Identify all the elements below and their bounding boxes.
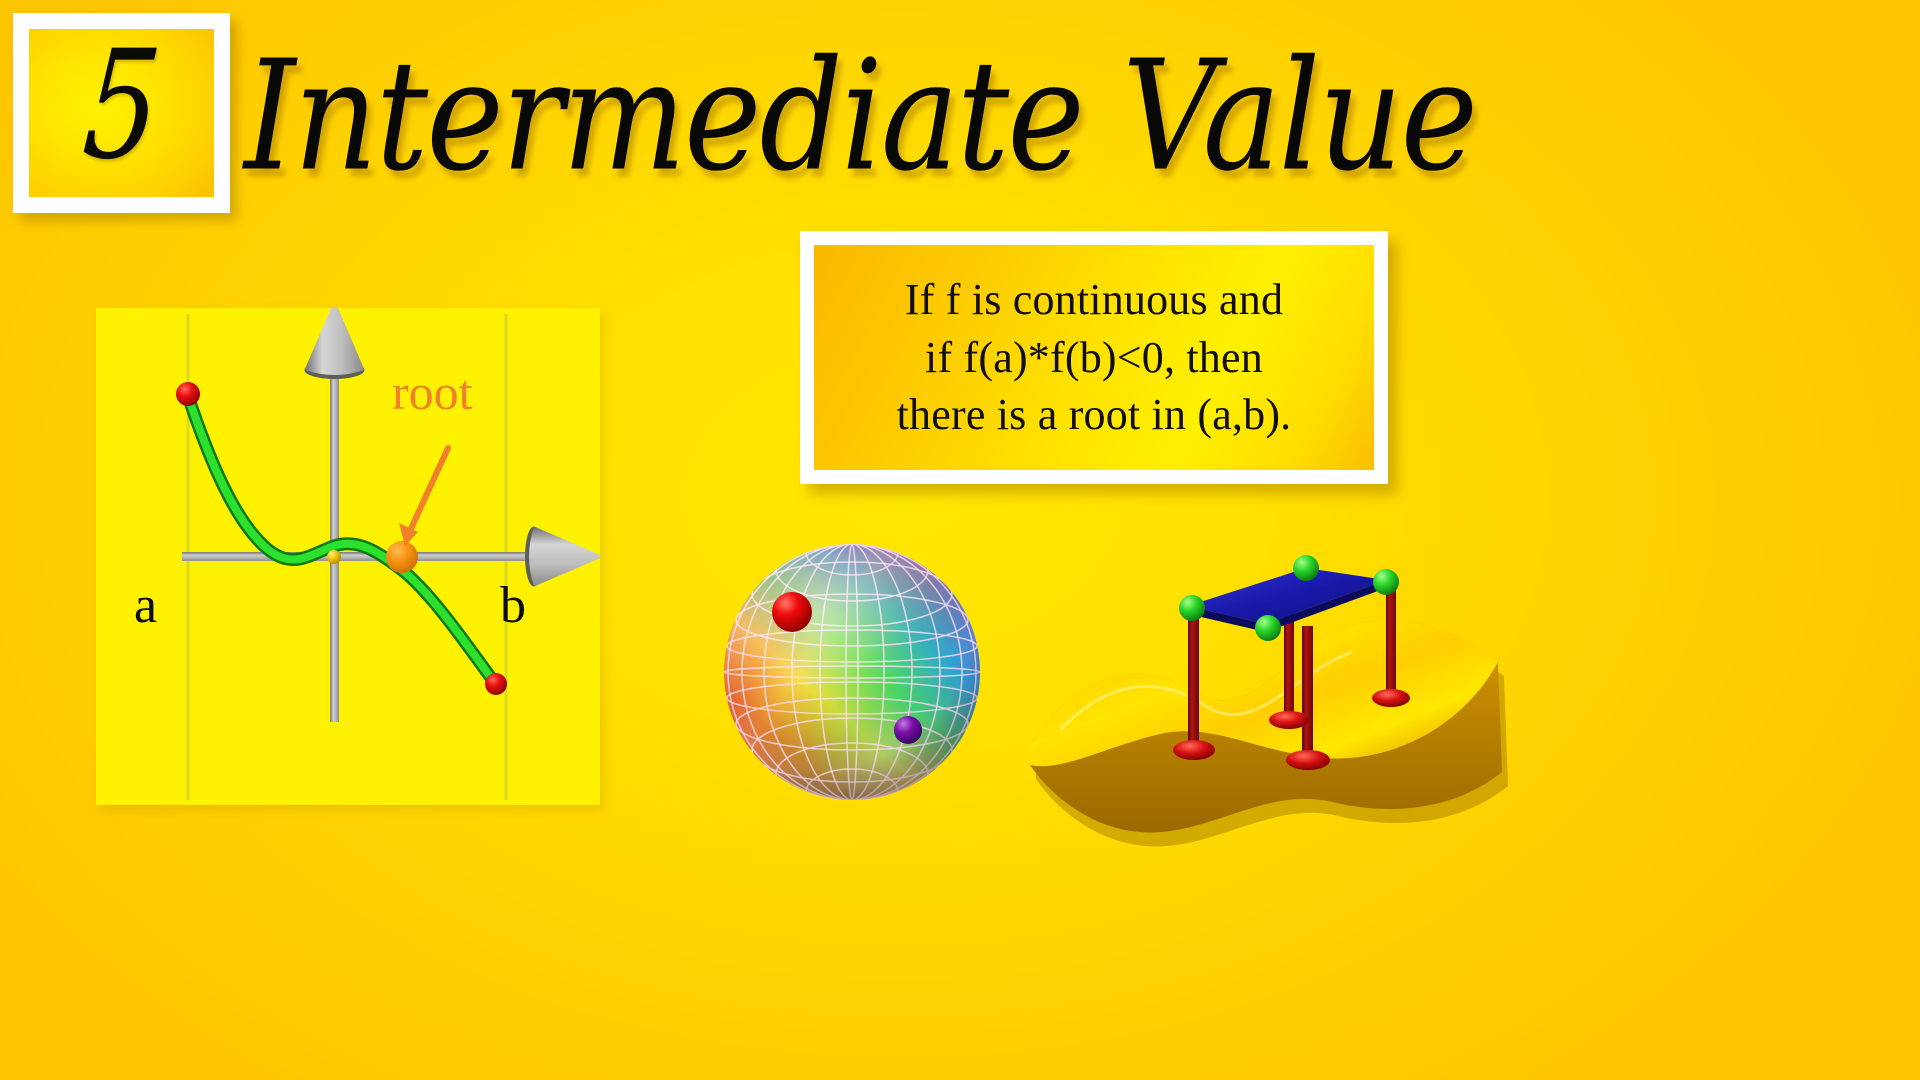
statement-line-1: If f is continuous and — [905, 274, 1283, 325]
page-title: Intermediate Value — [351, 11, 1369, 224]
origin-dot — [327, 550, 341, 564]
statement-line-2: if f(a)*f(b)<0, then — [925, 332, 1263, 383]
slide-number-badge: 5 — [13, 13, 230, 213]
sphere-marker-purple — [894, 716, 922, 744]
interval-label-a: a — [134, 580, 157, 632]
root-annotation-arrow-icon — [399, 448, 448, 546]
statement-box-fill: If f is continuous and if f(a)*f(b)<0, t… — [814, 245, 1374, 470]
root-label: root — [392, 367, 473, 417]
sphere-body — [724, 530, 980, 815]
function-graph-panel: a b root — [96, 308, 600, 805]
slide-canvas: 5 Intermediate Value If f is continuous … — [0, 0, 1920, 1080]
interval-label-b: b — [500, 580, 526, 632]
endpoint-b-dot — [485, 673, 507, 695]
function-curve-shadow — [188, 396, 494, 682]
x-axis — [182, 552, 534, 561]
slide-number-badge-fill: 5 — [29, 29, 214, 197]
endpoint-a-dot — [176, 382, 200, 406]
statement-line-3: there is a root in (a,b). — [897, 389, 1292, 440]
x-axis-arrow-icon — [525, 527, 600, 587]
graph-svg — [96, 308, 600, 805]
table-on-surface-figure — [1020, 520, 1520, 850]
root-dot — [386, 541, 418, 573]
slide-number-value: 5 — [42, 29, 200, 197]
statement-box: If f is continuous and if f(a)*f(b)<0, t… — [800, 231, 1388, 484]
y-axis-arrow-icon — [305, 308, 365, 379]
sphere-marker-red — [772, 592, 812, 632]
sphere-svg — [720, 530, 990, 818]
surface-svg — [1020, 520, 1520, 850]
rainbow-mesh-sphere-figure — [720, 530, 990, 818]
